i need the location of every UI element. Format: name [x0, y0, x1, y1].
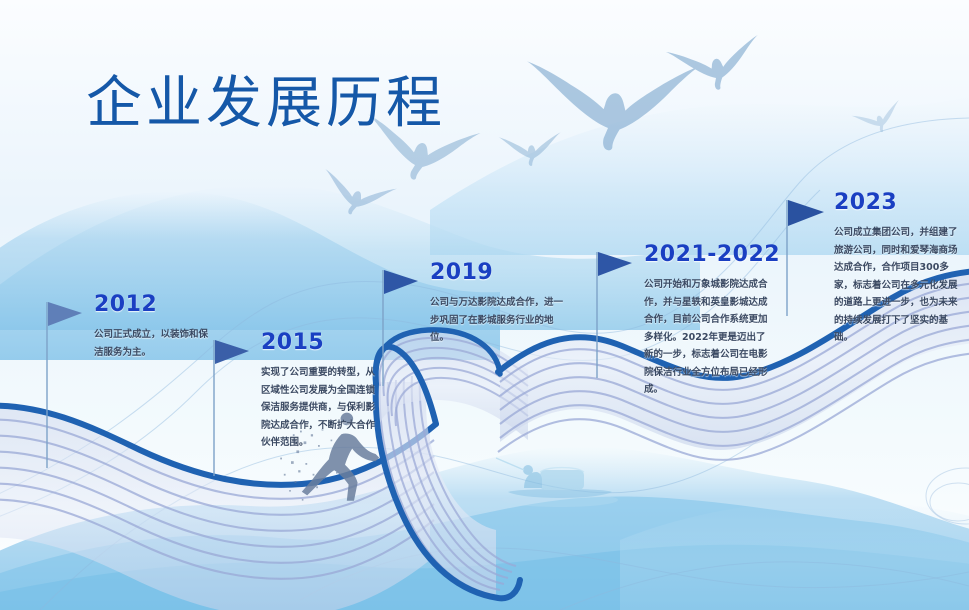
flag-icon	[209, 338, 255, 478]
flag-icon	[782, 198, 828, 318]
milestone-description: 公司成立集团公司，并组建了旅游公司，同时和爱琴海商场达成合作，合作项目300多家…	[834, 224, 964, 347]
milestone-description: 实现了公司重要的转型，从区域性公司发展为全国连锁保洁服务提供商，与保利影院达成合…	[261, 364, 381, 452]
milestone-year: 2019	[430, 260, 493, 285]
milestone-year: 2012	[94, 292, 157, 317]
flag-icon	[592, 250, 638, 380]
timeline-poster: 2012 公司正式成立，以装饰和保洁服务为主。 2015 实现了公司重要的转型，…	[0, 0, 969, 610]
flag-icon	[42, 300, 88, 470]
milestone-description: 公司正式成立，以装饰和保洁服务为主。	[94, 326, 214, 361]
page-title: 企业发展历程	[86, 58, 446, 139]
milestone-description: 公司与万达影院达成合作，进一步巩固了在影城服务行业的地位。	[430, 294, 570, 347]
flag-icon	[378, 268, 424, 388]
milestone-year: 2015	[261, 330, 324, 355]
milestone-description: 公司开始和万象城影院达成合作，并与星轶和英皇影城达成合作，目前公司合作系统更加多…	[644, 276, 772, 399]
milestone-year: 2021-2022	[644, 242, 780, 267]
milestone-year: 2023	[834, 190, 897, 215]
